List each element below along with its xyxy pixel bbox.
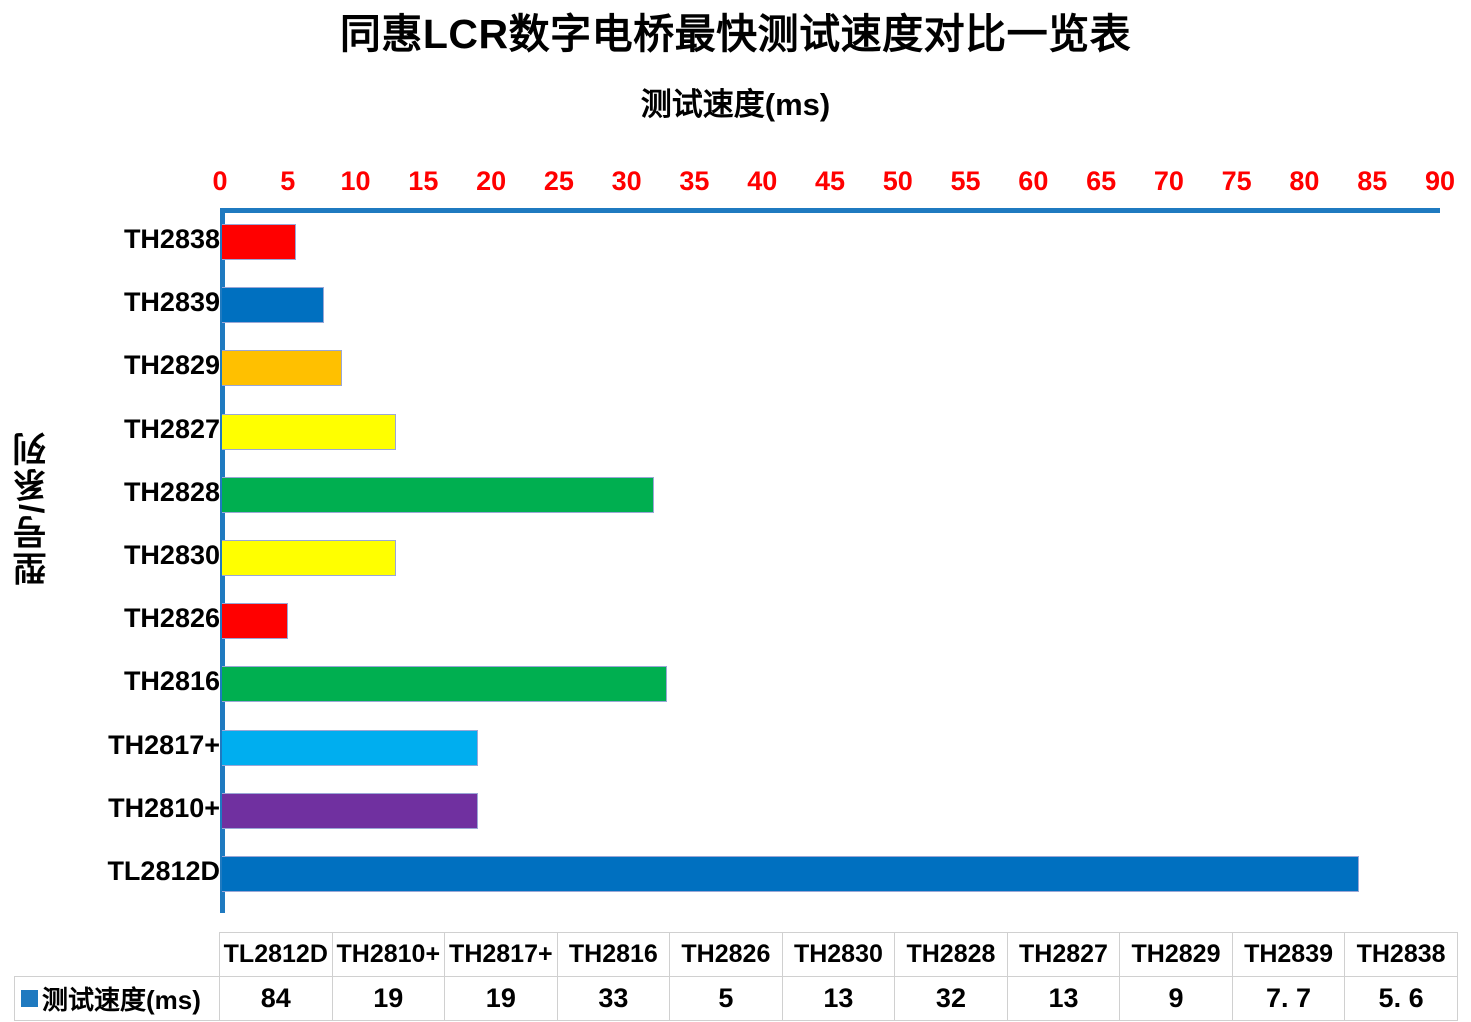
table-column-header: TH2826	[670, 933, 783, 977]
bar-th2817-plus[interactable]	[222, 730, 478, 766]
table-cell-value: 84	[220, 977, 333, 1021]
x-tick-label: 50	[883, 166, 913, 197]
legend-swatch-icon	[21, 990, 38, 1007]
x-tick-label: 60	[1018, 166, 1048, 197]
x-tick-label: 75	[1222, 166, 1252, 197]
y-tick-label: TH2810+	[0, 793, 220, 824]
bar-th2816[interactable]	[222, 666, 667, 702]
bar-th2830[interactable]	[222, 540, 396, 576]
table-cell-value: 19	[445, 977, 558, 1021]
table-column-header: TH2817+	[445, 933, 558, 977]
table-column-header: TH2828	[895, 933, 1008, 977]
y-tick-label: TH2817+	[0, 730, 220, 761]
data-table: TL2812DTH2810+TH2817+TH2816TH2826TH2830T…	[14, 932, 1458, 1021]
bar-tl2812d[interactable]	[222, 856, 1359, 892]
chart-subtitle: 测试速度(ms)	[0, 88, 1471, 122]
x-tick-label: 90	[1425, 166, 1455, 197]
x-tick-label: 70	[1154, 166, 1184, 197]
table-cell-value: 7. 7	[1232, 977, 1345, 1021]
x-axis-line	[220, 208, 1440, 213]
x-tick-label: 0	[212, 166, 227, 197]
table-column-header: TH2830	[782, 933, 895, 977]
table-row-header: 测试速度(ms)	[15, 977, 220, 1021]
table-column-header: TH2839	[1232, 933, 1345, 977]
table-column-header: TH2810+	[332, 933, 445, 977]
bar-th2838[interactable]	[222, 224, 296, 260]
x-tick-label: 45	[815, 166, 845, 197]
x-tick-label: 80	[1289, 166, 1319, 197]
y-tick-label: TH2829	[0, 350, 220, 381]
y-tick-label: TL2812D	[0, 856, 220, 887]
table-row-header-label: 测试速度(ms)	[42, 985, 201, 1015]
y-tick-label: TH2830	[0, 540, 220, 571]
y-tick-label: TH2828	[0, 477, 220, 508]
table-cell-value: 13	[782, 977, 895, 1021]
table-cell-value: 5	[670, 977, 783, 1021]
x-tick-label: 5	[280, 166, 295, 197]
table-cell-value: 33	[557, 977, 670, 1021]
x-tick-label: 55	[951, 166, 981, 197]
bar-th2827[interactable]	[222, 414, 396, 450]
y-tick-label: TH2816	[0, 666, 220, 697]
bar-th2839[interactable]	[222, 287, 324, 323]
x-tick-label: 10	[341, 166, 371, 197]
table-header-row: TL2812DTH2810+TH2817+TH2816TH2826TH2830T…	[15, 933, 1458, 977]
x-tick-label: 35	[679, 166, 709, 197]
bar-th2829[interactable]	[222, 350, 342, 386]
bar-th2826[interactable]	[222, 603, 288, 639]
table-cell-value: 19	[332, 977, 445, 1021]
table-corner-cell	[15, 933, 220, 977]
y-tick-label: TH2826	[0, 603, 220, 634]
y-tick-label: TH2839	[0, 287, 220, 318]
page-title: 同惠LCR数字电桥最快测试速度对比一览表	[0, 12, 1471, 57]
table-value-row: 测试速度(ms) 84191933513321397. 75. 6	[15, 977, 1458, 1021]
x-tick-label: 40	[747, 166, 777, 197]
plot-area: 051015202530354045505560657075808590	[220, 208, 1440, 913]
x-tick-label: 15	[408, 166, 438, 197]
x-tick-label: 30	[612, 166, 642, 197]
table-column-header: TH2827	[1007, 933, 1120, 977]
table-column-header: TH2838	[1345, 933, 1458, 977]
bar-th2828[interactable]	[222, 477, 654, 513]
table-cell-value: 5. 6	[1345, 977, 1458, 1021]
table-cell-value: 32	[895, 977, 1008, 1021]
x-tick-label: 85	[1357, 166, 1387, 197]
table-column-header: TH2829	[1120, 933, 1233, 977]
bar-th2810-plus[interactable]	[222, 793, 478, 829]
y-tick-label: TH2838	[0, 224, 220, 255]
y-tick-label: TH2827	[0, 414, 220, 445]
table-cell-value: 9	[1120, 977, 1233, 1021]
table-column-header: TL2812D	[220, 933, 333, 977]
x-tick-label: 65	[1086, 166, 1116, 197]
x-tick-label: 20	[476, 166, 506, 197]
x-tick-label: 25	[544, 166, 574, 197]
table-column-header: TH2816	[557, 933, 670, 977]
table-cell-value: 13	[1007, 977, 1120, 1021]
